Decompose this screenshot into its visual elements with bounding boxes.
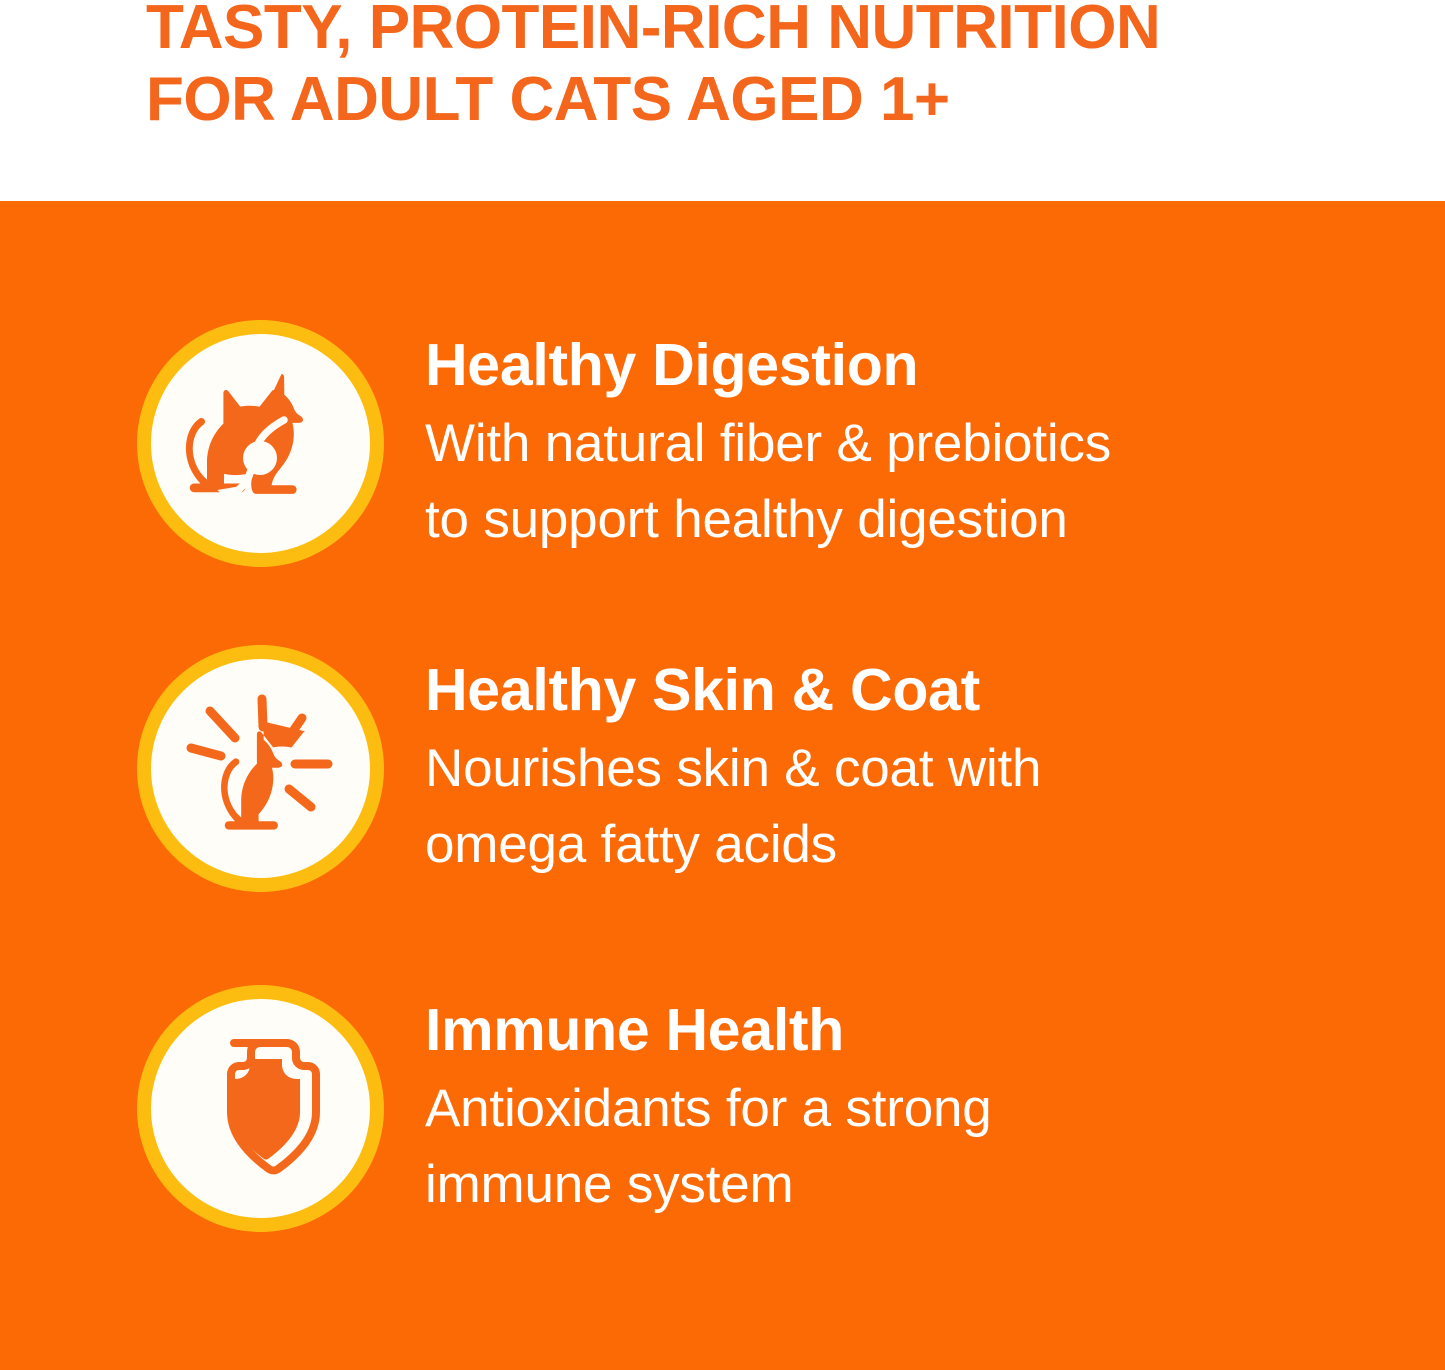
benefit-text-block: Immune Health Antioxidants for a strong …: [425, 997, 1345, 1223]
cat-digestion-icon: [177, 360, 344, 527]
benefit-description: Nourishes skin & coat with omega fatty a…: [425, 731, 1345, 883]
benefit-title: Immune Health: [425, 997, 1345, 1063]
benefit-description: With natural fiber & prebiotics to suppo…: [425, 406, 1345, 558]
product-benefits-infographic: TASTY, PROTEIN-RICH NUTRITION FOR ADULT …: [0, 0, 1445, 1370]
benefit-icon-badge: [137, 985, 384, 1232]
benefit-title: Healthy Skin & Coat: [425, 657, 1345, 723]
shield-icon: [177, 1025, 344, 1192]
benefit-icon-badge: [137, 645, 384, 892]
benefit-description: Antioxidants for a strong immune system: [425, 1071, 1345, 1223]
benefit-icon-badge: [137, 320, 384, 567]
benefits-panel: Healthy Digestion With natural fiber & p…: [0, 201, 1445, 1370]
benefit-text-block: Healthy Skin & Coat Nourishes skin & coa…: [425, 657, 1345, 883]
benefit-text-block: Healthy Digestion With natural fiber & p…: [425, 332, 1345, 558]
header-band: TASTY, PROTEIN-RICH NUTRITION FOR ADULT …: [0, 0, 1445, 201]
benefit-title: Healthy Digestion: [425, 332, 1345, 398]
page-title: TASTY, PROTEIN-RICH NUTRITION FOR ADULT …: [146, 0, 1386, 136]
cat-shine-icon: [177, 685, 344, 852]
